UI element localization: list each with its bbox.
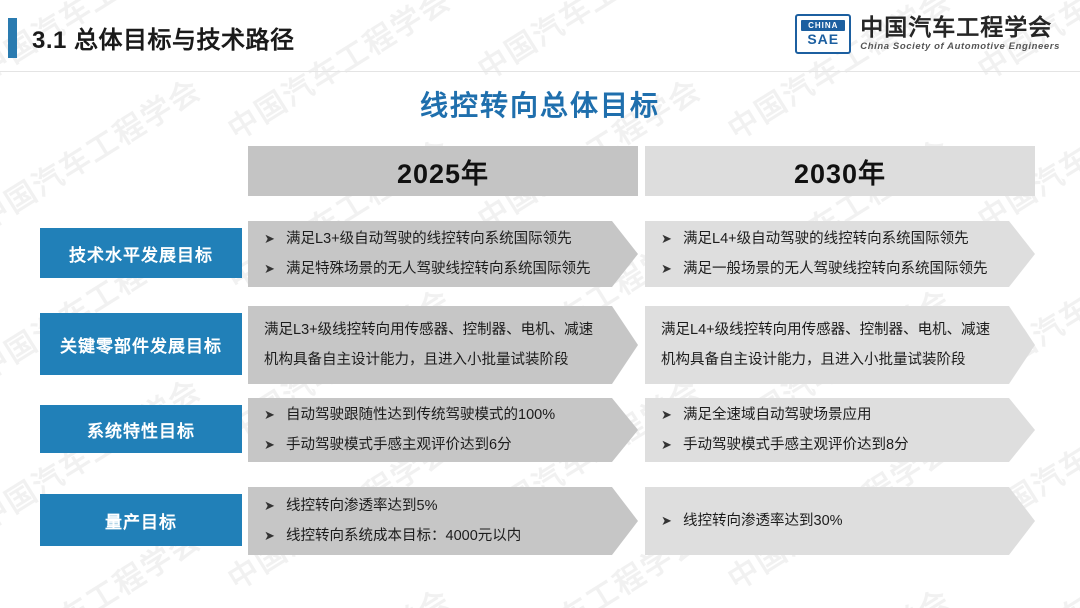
bullet-arrow-icon: ➤	[661, 430, 683, 460]
header-divider	[0, 71, 1080, 72]
cell-row4-2030: ➤线控转向渗透率达到30%	[645, 487, 1035, 555]
bullet-arrow-icon: ➤	[264, 254, 286, 284]
bullet-item: ➤线控转向系统成本目标：4000元以内	[264, 521, 598, 551]
logo-badge-bottom: SAE	[807, 31, 839, 48]
bullet-item: ➤满足一般场景的无人驾驶线控转向系统国际领先	[661, 254, 995, 284]
slide-canvas: 中国汽车工程学会中国汽车工程学会中国汽车工程学会中国汽车工程学会中国汽车工程学会…	[0, 0, 1080, 608]
logo-badge-top: CHINA	[801, 20, 845, 31]
bullet-arrow-icon: ➤	[264, 491, 286, 521]
column-header-2030: 2030年	[645, 146, 1035, 196]
bullet-text: 线控转向系统成本目标：4000元以内	[286, 521, 598, 551]
bullet-arrow-icon: ➤	[661, 254, 683, 284]
bullet-item: ➤手动驾驶模式手感主观评价达到6分	[264, 430, 598, 460]
bullet-text: 线控转向渗透率达到30%	[683, 506, 995, 536]
cell-text: 满足L4+级线控转向用传感器、控制器、电机、减速机构具备自主设计能力，且进入小批…	[661, 315, 995, 375]
bullet-text: 满足L3+级自动驾驶的线控转向系统国际领先	[286, 224, 598, 254]
bullet-arrow-icon: ➤	[264, 521, 286, 551]
bullet-text: 自动驾驶跟随性达到传统驾驶模式的100%	[286, 400, 598, 430]
page-title: 3.1 总体目标与技术路径	[32, 20, 295, 55]
logo-name-cn: 中国汽车工程学会	[860, 15, 1060, 40]
title-accent-bar	[8, 18, 17, 58]
bullet-text: 手动驾驶模式手感主观评价达到6分	[286, 430, 598, 460]
column-header-2025: 2025年	[248, 146, 638, 196]
bullet-arrow-icon: ➤	[264, 224, 286, 254]
bullet-text: 手动驾驶模式手感主观评价达到8分	[683, 430, 995, 460]
bullet-item: ➤线控转向渗透率达到5%	[264, 491, 598, 521]
bullet-arrow-icon: ➤	[661, 400, 683, 430]
bullet-item: ➤满足L3+级自动驾驶的线控转向系统国际领先	[264, 224, 598, 254]
bullet-item: ➤满足L4+级自动驾驶的线控转向系统国际领先	[661, 224, 995, 254]
logo-text-block: 中国汽车工程学会 China Society of Automotive Eng…	[860, 15, 1060, 53]
bullet-item: ➤满足特殊场景的无人驾驶线控转向系统国际领先	[264, 254, 598, 284]
org-logo: CHINA SAE 中国汽车工程学会 China Society of Auto…	[795, 14, 1060, 54]
cell-text: 满足L3+级线控转向用传感器、控制器、电机、减速机构具备自主设计能力，且进入小批…	[264, 315, 598, 375]
cell-row1-2030: ➤满足L4+级自动驾驶的线控转向系统国际领先➤满足一般场景的无人驾驶线控转向系统…	[645, 221, 1035, 287]
cell-row2-2025: 满足L3+级线控转向用传感器、控制器、电机、减速机构具备自主设计能力，且进入小批…	[248, 306, 638, 384]
bullet-arrow-icon: ➤	[661, 224, 683, 254]
bullet-text: 满足全速域自动驾驶场景应用	[683, 400, 995, 430]
bullet-arrow-icon: ➤	[264, 400, 286, 430]
cell-row3-2030: ➤满足全速域自动驾驶场景应用➤手动驾驶模式手感主观评价达到8分	[645, 398, 1035, 462]
bullet-item: ➤线控转向渗透率达到30%	[661, 506, 995, 536]
bullet-text: 满足一般场景的无人驾驶线控转向系统国际领先	[683, 254, 995, 284]
row-label-1: 技术水平发展目标	[40, 228, 242, 278]
bullet-text: 线控转向渗透率达到5%	[286, 491, 598, 521]
cell-row2-2030: 满足L4+级线控转向用传感器、控制器、电机、减速机构具备自主设计能力，且进入小批…	[645, 306, 1035, 384]
row-label-4: 量产目标	[40, 494, 242, 546]
logo-name-en: China Society of Automotive Engineers	[860, 40, 1060, 53]
cell-row1-2025: ➤满足L3+级自动驾驶的线控转向系统国际领先➤满足特殊场景的无人驾驶线控转向系统…	[248, 221, 638, 287]
cell-row4-2025: ➤线控转向渗透率达到5%➤线控转向系统成本目标：4000元以内	[248, 487, 638, 555]
bullet-arrow-icon: ➤	[264, 430, 286, 460]
slide-header: 3.1 总体目标与技术路径 CHINA SAE 中国汽车工程学会 China S…	[0, 0, 1080, 72]
bullet-item: ➤满足全速域自动驾驶场景应用	[661, 400, 995, 430]
bullet-text: 满足L4+级自动驾驶的线控转向系统国际领先	[683, 224, 995, 254]
row-label-3: 系统特性目标	[40, 405, 242, 453]
sae-badge-icon: CHINA SAE	[795, 14, 851, 54]
bullet-text: 满足特殊场景的无人驾驶线控转向系统国际领先	[286, 254, 598, 284]
cell-row3-2025: ➤自动驾驶跟随性达到传统驾驶模式的100%➤手动驾驶模式手感主观评价达到6分	[248, 398, 638, 462]
row-label-2: 关键零部件发展目标	[40, 313, 242, 375]
bullet-item: ➤自动驾驶跟随性达到传统驾驶模式的100%	[264, 400, 598, 430]
bullet-item: ➤手动驾驶模式手感主观评价达到8分	[661, 430, 995, 460]
goals-table: 2025年2030年技术水平发展目标➤满足L3+级自动驾驶的线控转向系统国际领先…	[0, 0, 1080, 608]
bullet-arrow-icon: ➤	[661, 506, 683, 536]
